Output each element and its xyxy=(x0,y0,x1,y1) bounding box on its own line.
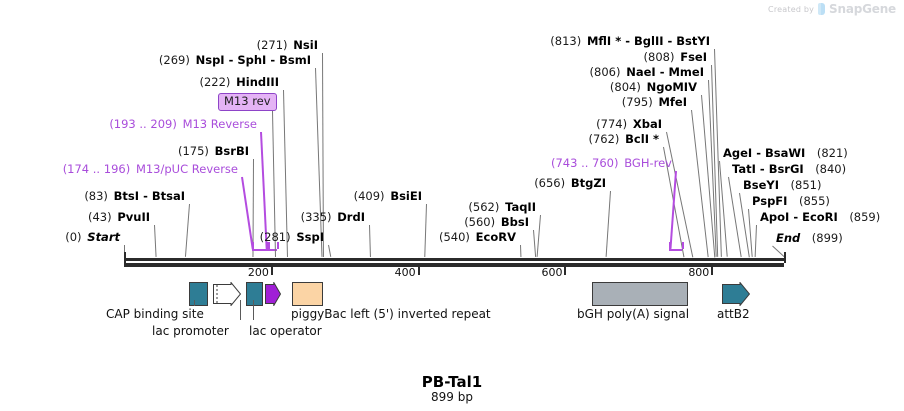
ruler-tick-label: 200 xyxy=(248,266,271,279)
enzyme-site-label[interactable]: (83) BtsI - BtsaI xyxy=(84,190,185,202)
enzyme-position: (795) xyxy=(622,95,653,109)
feature-box xyxy=(292,282,323,306)
leader-line xyxy=(537,215,541,257)
leader-line xyxy=(424,204,427,257)
enzyme-position: (175) xyxy=(178,144,209,158)
backbone-line-bottom xyxy=(124,263,784,267)
primer-label[interactable]: (193 .. 209) M13 Reverse xyxy=(109,118,257,130)
enzyme-name: MflI * xyxy=(587,34,621,48)
enzyme-name: TatI xyxy=(732,162,756,176)
leader-line xyxy=(772,246,785,258)
enzyme-position: (335) xyxy=(301,210,332,224)
feature-lac-promoter[interactable] xyxy=(213,282,241,306)
primer-span-tick xyxy=(682,242,684,249)
feature-label: lac operator xyxy=(249,324,322,338)
leader-line xyxy=(606,191,611,257)
ruler-end-cap-left xyxy=(124,252,126,263)
feature-label-connector xyxy=(253,300,254,320)
watermark-created-by-label: Created by xyxy=(768,5,814,14)
enzyme-name: TaqII xyxy=(505,200,536,214)
enzyme-site-label[interactable]: TatI - BsrGI (840) xyxy=(732,163,846,175)
enzyme-site-label[interactable]: End (899) xyxy=(776,232,843,244)
feature-label-connector xyxy=(240,300,241,320)
enzyme-site-label[interactable]: BseYI (851) xyxy=(743,179,821,191)
enzyme-name: NaeI xyxy=(626,65,655,79)
primer-span-bar xyxy=(669,249,681,251)
enzyme-name: End xyxy=(776,231,800,245)
enzyme-site-label[interactable]: (269) NspI - SphI - BsmI xyxy=(159,54,311,66)
enzyme-position: (821) xyxy=(817,146,848,160)
enzyme-position: (840) xyxy=(815,162,846,176)
primer-span-tick xyxy=(252,242,254,249)
enzyme-site-label[interactable]: (540) EcoRV xyxy=(439,231,516,243)
enzyme-name: BsiEI xyxy=(390,189,422,203)
enzyme-site-label[interactable]: ApoI - EcoRI (859) xyxy=(760,211,880,223)
enzyme-name: NgoMIV xyxy=(647,80,697,94)
feature-lac-operator[interactable] xyxy=(246,282,263,306)
enzyme-position: (762) xyxy=(588,132,619,146)
snapgene-linear-map: Created by SnapGene (0) Start(43) PvuII(… xyxy=(0,0,904,411)
enzyme-name: BtsI xyxy=(114,189,139,203)
feature-label-connector xyxy=(194,300,195,306)
primer-name: BGH-rev xyxy=(624,156,672,170)
leader-line xyxy=(691,110,709,257)
backbone-line-top xyxy=(124,258,784,261)
enzyme-separator: - xyxy=(139,189,152,203)
enzyme-position: (222) xyxy=(199,75,230,89)
enzyme-separator: - xyxy=(789,210,802,224)
primer-span-bar xyxy=(252,249,268,251)
enzyme-position: (859) xyxy=(849,210,880,224)
feature-arrow-icon xyxy=(213,282,241,306)
enzyme-name: HindIII xyxy=(236,75,279,89)
enzyme-name: BtgZI xyxy=(571,176,606,190)
enzyme-name: MfeI xyxy=(658,95,687,109)
leader-line xyxy=(154,225,157,257)
enzyme-separator: - xyxy=(752,146,765,160)
enzyme-name: BseYI xyxy=(743,178,779,192)
ruler-tick-label: 800 xyxy=(688,266,711,279)
enzyme-position: (774) xyxy=(596,117,627,131)
enzyme-position: (804) xyxy=(610,80,641,94)
enzyme-site-label[interactable]: (175) BsrBI xyxy=(178,145,249,157)
primer-range: (743 .. 760) xyxy=(551,156,619,170)
leader-line xyxy=(533,230,536,257)
plasmid-length: 899 bp xyxy=(0,390,904,404)
enzyme-site-label[interactable]: (562) TaqII xyxy=(468,201,536,213)
primer-label[interactable]: (743 .. 760) BGH-rev xyxy=(551,157,672,169)
enzyme-name: PvuII xyxy=(117,210,150,224)
feature-label: lac promoter xyxy=(152,324,229,338)
enzyme-position: (813) xyxy=(550,34,581,48)
enzyme-name: BclI * xyxy=(625,132,659,146)
enzyme-site-label[interactable]: PspFI (855) xyxy=(752,195,830,207)
leader-line xyxy=(739,193,750,257)
enzyme-name: BsrGI xyxy=(769,162,804,176)
ruler-tick-label: 600 xyxy=(541,266,564,279)
enzyme-name: NsiI xyxy=(293,38,318,52)
leader-line xyxy=(520,245,521,257)
enzyme-separator: - xyxy=(656,65,669,79)
feature-label: bGH poly(A) signal xyxy=(577,307,689,321)
feature-piggybac-left-5-inverted-repeat[interactable] xyxy=(292,282,323,306)
ruler-tick xyxy=(711,267,713,275)
enzyme-name: ApoI xyxy=(760,210,789,224)
feature-cap-binding-site[interactable] xyxy=(189,282,208,306)
enzyme-site-label[interactable]: (409) BsiEI xyxy=(354,190,422,202)
enzyme-position: (269) xyxy=(159,53,190,67)
enzyme-site-label[interactable]: (806) NaeI - MmeI xyxy=(590,66,704,78)
feature-box xyxy=(189,282,208,306)
enzyme-name: BstYI xyxy=(676,34,710,48)
enzyme-position: (808) xyxy=(644,50,675,64)
enzyme-position: (540) xyxy=(439,230,470,244)
enzyme-name: MmeI xyxy=(668,65,704,79)
enzyme-site-label[interactable]: (808) FseI xyxy=(644,51,707,63)
enzyme-name: FseI xyxy=(680,50,707,64)
enzyme-site-label[interactable]: (762) BclI * xyxy=(588,133,659,145)
enzyme-name: DrdI xyxy=(337,210,365,224)
enzyme-separator: - xyxy=(225,53,238,67)
enzyme-separator: - xyxy=(664,34,677,48)
watermark-brand-label: SnapGene xyxy=(829,2,896,16)
enzyme-position: (851) xyxy=(791,178,822,192)
enzyme-position: (409) xyxy=(354,189,385,203)
enzyme-position: (899) xyxy=(812,231,843,245)
primer-name: M13/pUC Reverse xyxy=(136,162,238,176)
enzyme-site-label[interactable]: (0) Start xyxy=(65,231,120,243)
feature-label: attB2 xyxy=(717,307,750,321)
enzyme-name: AgeI xyxy=(723,146,752,160)
enzyme-separator: - xyxy=(266,53,279,67)
feature-piggybac-itr-left-marker[interactable] xyxy=(265,282,281,306)
enzyme-name: BsrBI xyxy=(215,144,249,158)
leader-line xyxy=(185,204,190,257)
leader-line xyxy=(328,245,331,257)
feature-label: CAP binding site xyxy=(106,307,204,321)
primer-range: (174 .. 196) xyxy=(63,162,131,176)
feature-bgh-poly-a-signal[interactable] xyxy=(592,282,688,306)
leader-line xyxy=(755,225,757,257)
feature-box xyxy=(246,282,263,306)
leader-line xyxy=(369,225,371,257)
enzyme-site-label[interactable]: (43) PvuII xyxy=(88,211,150,223)
feature-box xyxy=(592,282,688,306)
enzyme-position: (806) xyxy=(590,65,621,79)
enzyme-position: (855) xyxy=(799,194,830,208)
feature-arrow-icon xyxy=(722,282,750,306)
leader-line xyxy=(728,177,742,257)
snapgene-watermark: Created by SnapGene xyxy=(768,2,896,16)
enzyme-site-label[interactable]: AgeI - BsaWI (821) xyxy=(723,147,848,159)
enzyme-site-label[interactable]: (560) BbsI xyxy=(464,216,529,228)
enzyme-site-label[interactable]: (813) MflI * - BglII - BstYI xyxy=(550,35,710,47)
primer-name: M13 Reverse xyxy=(183,117,257,131)
enzyme-name: NspI xyxy=(196,53,225,67)
feature-arrow-icon xyxy=(265,282,281,306)
ruler-tick xyxy=(564,267,566,275)
ruler-tick-label: 400 xyxy=(395,266,418,279)
enzyme-name: BglII xyxy=(634,34,664,48)
enzyme-name: PspFI xyxy=(752,194,787,208)
enzyme-position: (271) xyxy=(257,38,288,52)
ruler-tick xyxy=(418,267,420,275)
enzyme-position: (656) xyxy=(534,176,565,190)
enzyme-site-label[interactable]: (281) SspI xyxy=(260,231,324,243)
enzyme-position: (83) xyxy=(84,189,108,203)
enzyme-name: BtsaI xyxy=(152,189,185,203)
enzyme-name: BbsI xyxy=(501,215,529,229)
feature-attb2[interactable] xyxy=(722,282,750,306)
snapgene-logo-icon xyxy=(818,3,825,15)
primer-range: (193 .. 209) xyxy=(109,117,177,131)
enzyme-position: (0) xyxy=(65,230,81,244)
primer-span-tick xyxy=(669,242,671,249)
primer-label[interactable]: (174 .. 196) M13/pUC Reverse xyxy=(63,163,238,175)
enzyme-name: EcoRV xyxy=(476,230,516,244)
enzyme-position: (560) xyxy=(464,215,495,229)
enzyme-name: BsmI xyxy=(279,53,311,67)
ruler-end-cap-right xyxy=(784,252,786,263)
enzyme-separator: - xyxy=(621,34,634,48)
primer-badge-m13-rev[interactable]: M13 rev xyxy=(218,93,277,111)
enzyme-position: (281) xyxy=(260,230,291,244)
enzyme-position: (562) xyxy=(468,200,499,214)
ruler-tick xyxy=(271,267,273,275)
enzyme-site-label[interactable]: (795) MfeI xyxy=(622,96,687,108)
enzyme-site-label[interactable]: (271) NsiI xyxy=(257,39,318,51)
enzyme-separator: - xyxy=(756,162,769,176)
enzyme-name: Start xyxy=(87,230,120,244)
enzyme-position: (43) xyxy=(88,210,112,224)
leader-line xyxy=(322,53,324,257)
enzyme-name: XbaI xyxy=(633,117,662,131)
enzyme-site-label[interactable]: (774) XbaI xyxy=(596,118,662,130)
enzyme-site-label[interactable]: (804) NgoMIV xyxy=(610,81,697,93)
enzyme-site-label[interactable]: (335) DrdI xyxy=(301,211,365,223)
enzyme-site-label[interactable]: (656) BtgZI xyxy=(534,177,606,189)
enzyme-name: EcoRI xyxy=(802,210,838,224)
enzyme-name: BsaWI xyxy=(765,146,805,160)
enzyme-site-label[interactable]: (222) HindIII xyxy=(199,76,279,88)
plasmid-title: PB-Tal1 xyxy=(0,373,904,391)
enzyme-name: SspI xyxy=(296,230,324,244)
enzyme-name: SphI xyxy=(237,53,266,67)
feature-label: piggyBac left (5') inverted repeat xyxy=(291,307,491,321)
